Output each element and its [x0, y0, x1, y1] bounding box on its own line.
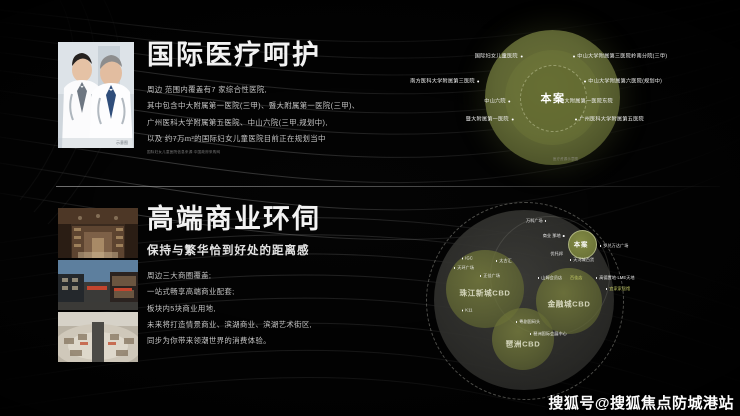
poi-hospital-left-2: 南方医科大学附属第三医院 — [410, 78, 482, 85]
poi-hospital-left-1: 国际妇女儿童医院 — [475, 53, 525, 60]
medical-footnote: 国际妇女儿童医院信息来源:中国政府采购网 — [147, 150, 397, 155]
commerce-subtitle: 保持与繁华恰到好处的距离感 — [147, 242, 407, 258]
poi-hospital-left-3: 中山六院 — [484, 98, 513, 105]
slide-canvas: 示意图 国际医疗呵护 周边 范围内覆盖有7 家综合性医院, 其中包含中大附属第一… — [0, 0, 740, 416]
poi-tianhecheng-dept-store: 天河城百货 — [568, 257, 594, 263]
poi-pazhou-expo-center: 琶洲国际会展中心 — [528, 331, 567, 337]
medical-body-line-3: 广州医科大学附属第五医院、中山六院(三甲,规划中), — [147, 119, 397, 127]
cbd-core-label: 本案 — [574, 240, 588, 249]
cluster-label-pazhou: 琶洲CBD — [506, 339, 541, 350]
diagram-note: 医疗资源示意图 — [553, 156, 578, 161]
poi-dot-icon — [573, 55, 575, 57]
poi-dot-icon — [454, 267, 456, 269]
poi-dot-icon — [563, 235, 565, 237]
poi-dot-icon — [538, 277, 540, 279]
retail-interior-thumb — [58, 208, 138, 258]
poi-luodui-wanda-plaza: 罗兑万达广场 — [598, 243, 628, 249]
medical-body-line-4: 以及 约7万m²的国际妇女儿童医院目前正在规划当中 — [147, 135, 397, 143]
commerce-body-line-4: 未来将打造情景商业、滨湖商业、滨湖艺术街区, — [147, 321, 407, 329]
poi-utopia: 优托邦 — [550, 251, 563, 257]
medical-body-line-1: 周边 范围内覆盖有7 家综合性医院, — [147, 86, 397, 94]
watermark: 搜狐号@搜狐焦点防城港站 — [548, 392, 734, 413]
medical-body-line-2: 其中包含中大附属第一医院(三甲)、暨大附属第一医院(三甲)、 — [147, 102, 397, 110]
poi-hospital-right-4: 广州医科大学附属第五医院 — [572, 116, 644, 123]
poi-dot-icon — [575, 118, 577, 120]
poi-hospital-left-4: 暨大附属第一医院 — [466, 116, 516, 123]
commerce-body-line-5: 同步为你带来领潮世界的消费体验。 — [147, 337, 407, 345]
poi-taikoo-hui: 太古汇 — [494, 258, 512, 264]
poi-zhengjia-plaza: 正佳广场 — [478, 273, 500, 279]
poi-dot-icon — [570, 259, 572, 261]
poi-sams-club: 山姆会员店 — [536, 275, 562, 281]
poi-dot-icon — [508, 100, 510, 102]
poi-hospital-right-3: 中大附属第一医院东院 — [559, 98, 613, 105]
cluster-label-zhujiang: 珠江新城CBD — [459, 288, 510, 299]
poi-yueju-wharf: 粤剧国码头 — [514, 319, 540, 325]
poi-baijia-store: 百佳店 — [570, 275, 583, 281]
commerce-title: 高端商业环伺 — [147, 206, 407, 233]
medical-text-block: 国际医疗呵护 周边 范围内覆盖有7 家综合性医院, 其中包含中大附属第一医院(三… — [147, 42, 397, 155]
poi-dot-icon — [584, 80, 586, 82]
poi-gaode-lme: 高德置地·LME天地 — [594, 275, 635, 281]
section-divider — [56, 186, 720, 187]
cluster-label-jinrongcheng: 金融城CBD — [548, 299, 591, 310]
commerce-body-line-2: 一站式畅享高端商业配套; — [147, 288, 407, 296]
poi-wanke-plaza: 万科广场 — [526, 218, 548, 224]
street-commerce-thumb — [58, 260, 138, 310]
medical-title: 国际医疗呵护 — [147, 42, 397, 69]
poi-tianhuan-plaza: 天环广场 — [452, 265, 474, 271]
poi-dot-icon — [480, 275, 482, 277]
poi-dot-icon — [606, 288, 608, 290]
poi-dot-icon — [530, 333, 532, 335]
two-doctors-photo: 示意图 — [58, 42, 134, 148]
commerce-body-line-1: 周边三大商圈覆盖; — [147, 272, 407, 280]
commerce-body-line-3: 板块内5块商业用地, — [147, 305, 407, 313]
svg-text:示意图: 示意图 — [116, 139, 128, 145]
mall-atrium-thumb — [58, 312, 138, 362]
hospital-radial-diagram: 本案 国际妇女儿童医院 南方医科大学附属第三医院 中山六院 暨大附属第一医院 中… — [398, 8, 740, 186]
cbd-bubble-diagram: 珠江新城CBD 金融城CBD 琶洲CBD 本案 万科广场 商业 那地 IGC 太… — [408, 196, 658, 406]
poi-dot-icon — [545, 220, 547, 222]
poi-dot-icon — [496, 260, 498, 262]
poi-dot-icon — [462, 310, 464, 312]
poi-k11: K11 — [460, 308, 473, 313]
poi-dot-icon — [462, 258, 464, 260]
poi-ikea: 宜家家居馆 — [604, 286, 630, 292]
poi-dot-icon — [511, 118, 513, 120]
poi-dot-icon — [516, 321, 518, 323]
section-medical: 示意图 国际医疗呵护 周边 范围内覆盖有7 家综合性医院, 其中包含中大附属第一… — [0, 0, 740, 186]
poi-igc: IGC — [460, 256, 473, 261]
poi-shangye-nadi: 商业 那地 — [543, 233, 566, 239]
section-commerce: 高端商业环伺 保持与繁华恰到好处的距离感 周边三大商圈覆盖; 一站式畅享高端商业… — [0, 188, 740, 416]
poi-dot-icon — [600, 245, 602, 247]
poi-dot-icon — [520, 55, 522, 57]
poi-hospital-right-1: 中山大学附属第三医院岭南分院(三甲) — [570, 53, 667, 60]
poi-dot-icon — [477, 80, 479, 82]
poi-hospital-right-2: 中山大学附属第六医院(规划中) — [581, 78, 662, 85]
commerce-text-block: 高端商业环伺 保持与繁华恰到好处的距离感 周边三大商圈覆盖; 一站式畅享高端商业… — [147, 206, 407, 345]
poi-dot-icon — [596, 277, 598, 279]
